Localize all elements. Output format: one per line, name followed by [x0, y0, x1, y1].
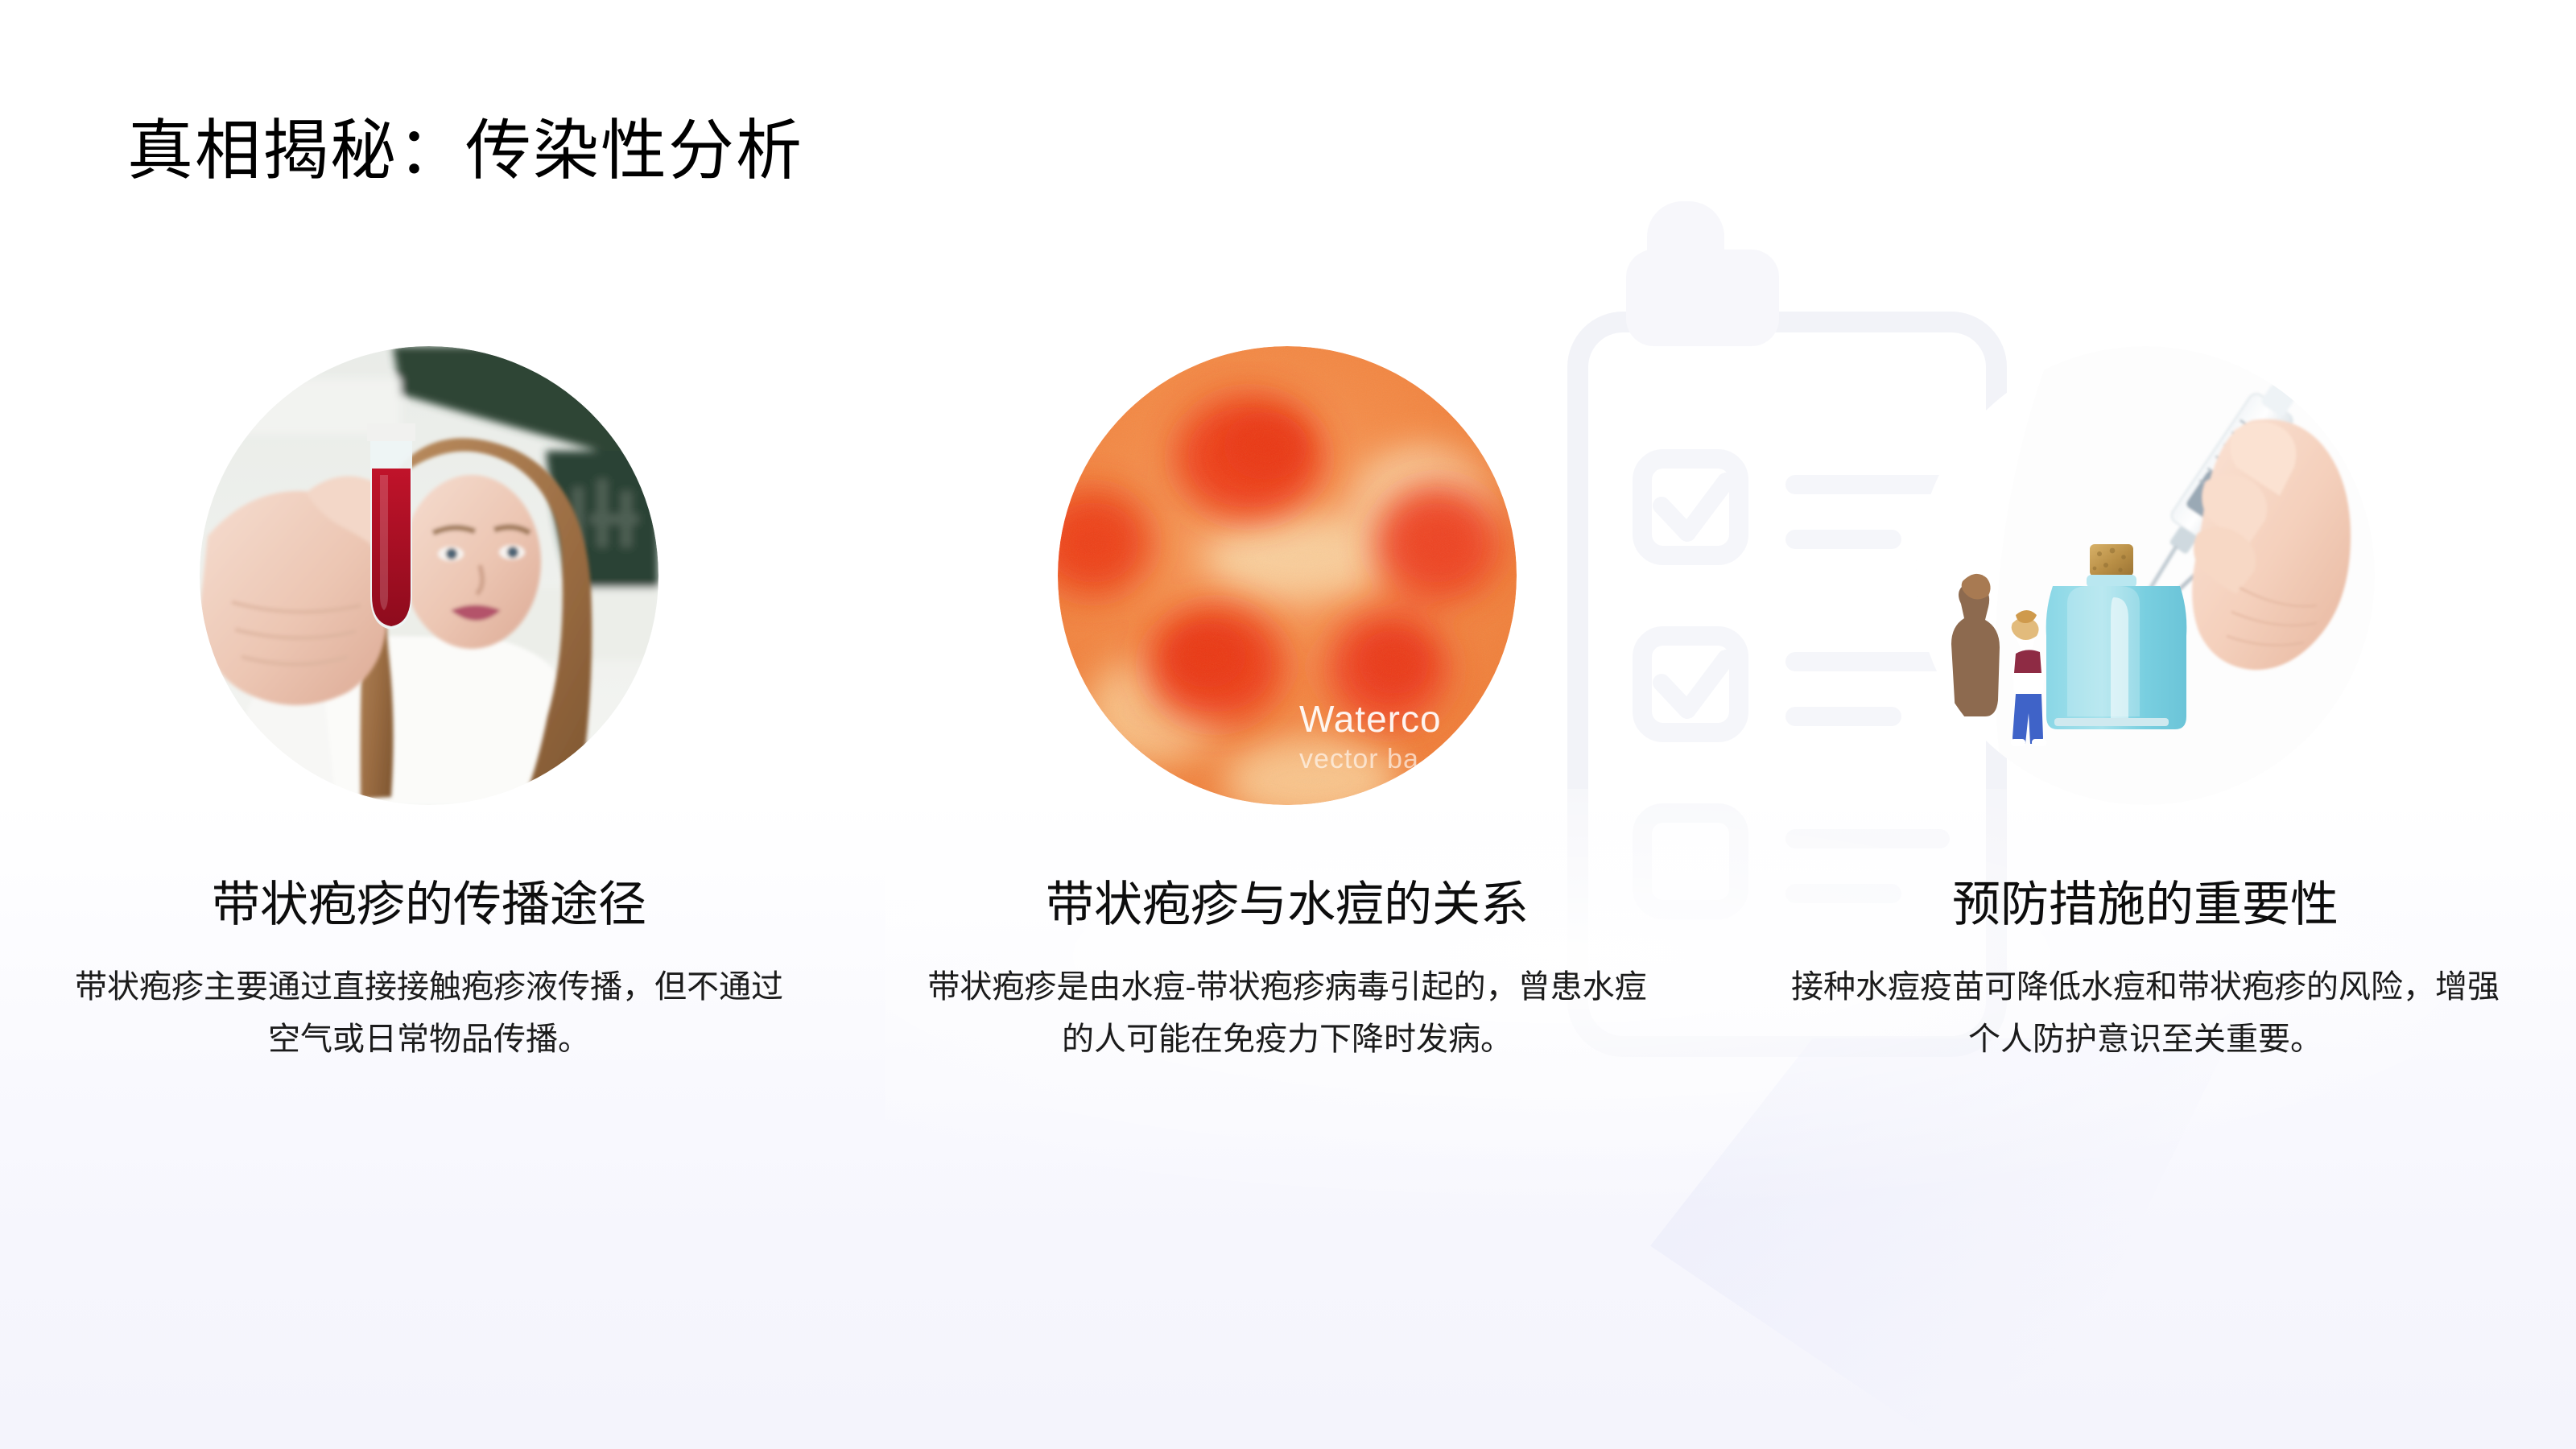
background-shard — [1650, 1038, 2230, 1449]
card-title-transmission: 带状疱疹的传播途径 — [212, 876, 646, 934]
column-transmission: 带状疱疹的传播途径 带状疱疹主要通过直接接触疱疹液传播，但不通过空气或日常物品传… — [0, 346, 858, 1066]
column-prevention: 预防措施的重要性 接种水痘疫苗可降低水痘和带状疱疹的风险，增强个人防护意识至关重… — [1716, 346, 2574, 1066]
card-title-prevention: 预防措施的重要性 — [1952, 876, 2339, 934]
content-columns: 带状疱疹的传播途径 带状疱疹主要通过直接接触疱疹液传播，但不通过空气或日常物品传… — [0, 346, 2576, 1066]
page-title: 真相揭秘：传染性分析 — [127, 113, 803, 191]
slide-root: 真相揭秘：传染性分析 — [0, 0, 2576, 1449]
column-relationship: Waterco vector ba 带状疱疹与水痘的关系 带状疱疹是由水痘-带状… — [858, 346, 1716, 1066]
watercolor-virus-texture: Waterco vector ba — [1058, 346, 1517, 805]
vaccine-syringe-photo — [1916, 346, 2375, 805]
card-title-relationship: 带状疱疹与水痘的关系 — [1046, 876, 1529, 934]
card-body-relationship: 带状疱疹是由水痘-带状疱疹病毒引起的，曾患水痘的人可能在免疫力下降时发病。 — [925, 961, 1649, 1066]
card-body-transmission: 带状疱疹主要通过直接接触疱疹液传播，但不通过空气或日常物品传播。 — [67, 961, 791, 1066]
blood-sample-photo — [200, 346, 658, 805]
card-body-prevention: 接种水痘疫苗可降低水痘和带状疱疹的风险，增强个人防护意识至关重要。 — [1783, 961, 2508, 1066]
